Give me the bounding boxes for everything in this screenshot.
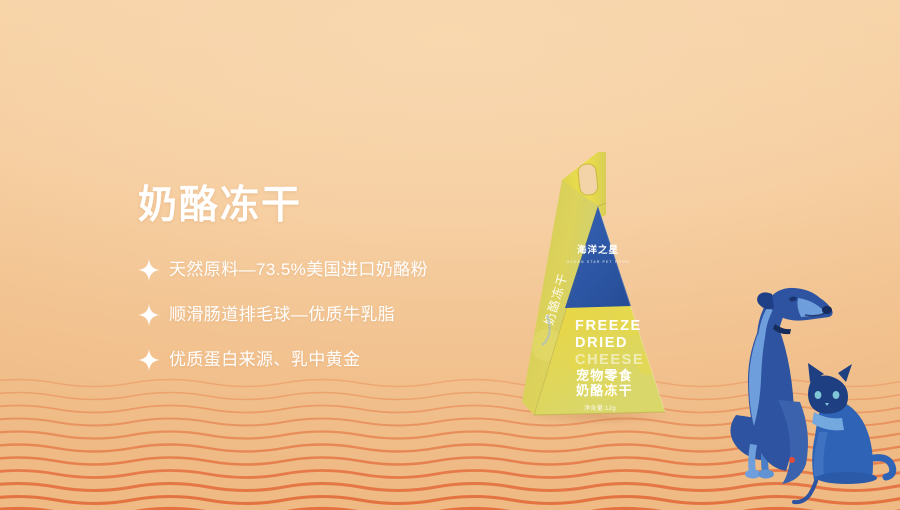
feature-list: 天然原料—73.5%美国进口奶酪粉 顺滑肠道排毛球—优质牛乳脂 优质蛋白来源、乳…: [138, 259, 498, 371]
package-line-cheese: CHEESE: [575, 352, 644, 368]
package-line-cheese-cn: 奶酪冻干: [575, 383, 633, 398]
product-package: 奶酪冻干 海洋之星 OCEAN STAR PET FOOD FREEZ: [505, 140, 675, 425]
package-line-snack: 宠物零食: [576, 368, 633, 383]
package-net-weight: 净含量:12g: [584, 404, 616, 412]
marketing-copy: 奶酪冻干 天然原料—73.5%美国进口奶酪粉 顺滑肠道排毛球—优质牛乳脂: [138, 186, 498, 394]
pet-illustrations: [710, 282, 900, 510]
dog-paw-right: [758, 470, 774, 479]
feature-text: 顺滑肠道排毛球—优质牛乳脂: [169, 306, 395, 325]
cat-illustration: [808, 363, 893, 484]
sparkle-icon: [138, 259, 160, 281]
dog-ear: [757, 292, 774, 309]
hang-hole: [577, 163, 598, 196]
cat-paws-base: [817, 472, 877, 484]
banner-canvas: 奶酪冻干 天然原料—73.5%美国进口奶酪粉 顺滑肠道排毛球—优质牛乳脂: [0, 0, 900, 510]
list-item: 优质蛋白来源、乳中黄金: [138, 349, 498, 371]
feature-text: 天然原料—73.5%美国进口奶酪粉: [169, 261, 428, 280]
sparkle-icon: [138, 349, 160, 371]
cat-ear-right: [838, 364, 852, 382]
package-line-freeze: FREEZE: [575, 318, 642, 334]
feature-text: 优质蛋白来源、乳中黄金: [169, 351, 360, 370]
page-title: 奶酪冻干: [138, 186, 498, 225]
cat-tail: [874, 458, 893, 477]
cat-eye-left: [815, 391, 822, 399]
brand-subtitle: OCEAN STAR PET FOOD: [566, 260, 629, 264]
dog-accent-dot: [789, 457, 795, 463]
package-line-dried: DRIED: [575, 335, 628, 351]
dog-nose: [822, 306, 832, 314]
cat-eye-right: [833, 391, 840, 399]
list-item: 顺滑肠道排毛球—优质牛乳脂: [138, 304, 498, 326]
cat-head: [808, 375, 848, 413]
sparkle-icon: [138, 304, 160, 326]
package-chinese-name: 宠物零食 奶酪冻干: [575, 368, 633, 398]
list-item: 天然原料—73.5%美国进口奶酪粉: [138, 259, 498, 281]
